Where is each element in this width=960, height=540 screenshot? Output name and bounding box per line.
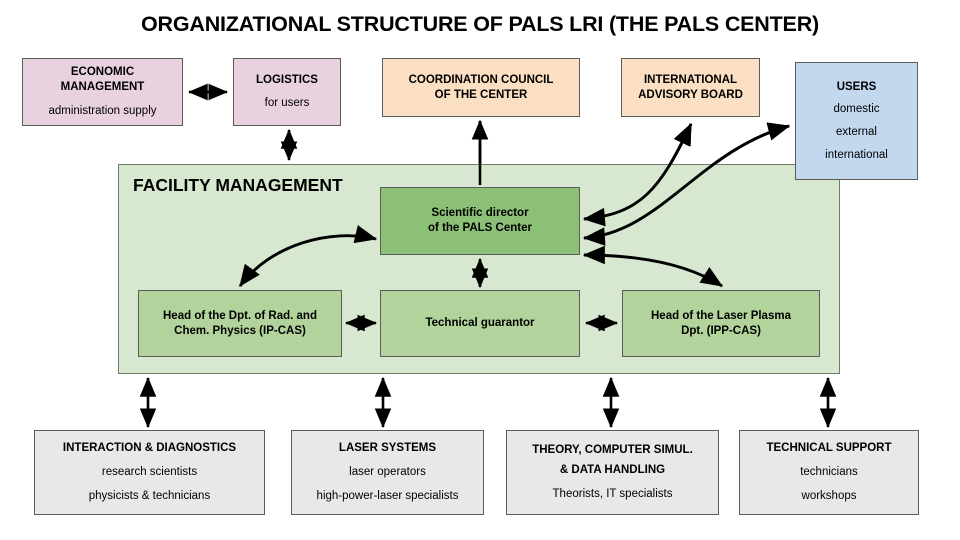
- node-heading-line2: MANAGEMENT: [61, 80, 145, 95]
- node-heading-line2: of the PALS Center: [428, 221, 532, 236]
- node-heading: TECHNICAL SUPPORT: [766, 441, 891, 456]
- node-users[interactable]: USERS domestic external international: [795, 62, 918, 180]
- node-subtext-1: laser operators: [349, 465, 426, 480]
- node-heading: Scientific director: [431, 206, 528, 221]
- node-heading: Technical guarantor: [425, 316, 534, 331]
- node-heading: ECONOMIC: [71, 65, 134, 80]
- node-technical-guarantor[interactable]: Technical guarantor: [380, 290, 580, 357]
- node-subtext: administration supply: [48, 104, 156, 119]
- node-subtext-1: technicians: [800, 465, 858, 480]
- node-heading: Head of the Laser Plasma: [651, 309, 791, 324]
- node-subtext-3: international: [825, 148, 888, 163]
- node-heading: USERS: [837, 80, 877, 95]
- node-laser-systems[interactable]: LASER SYSTEMS laser operators high-power…: [291, 430, 484, 515]
- node-theory-simulation-data-handling[interactable]: THEORY, COMPUTER SIMUL. & DATA HANDLING …: [506, 430, 719, 515]
- node-subtext-2: external: [836, 125, 877, 140]
- node-heading-line2: Chem. Physics (IP-CAS): [174, 324, 306, 339]
- node-logistics[interactable]: LOGISTICS for users: [233, 58, 341, 126]
- node-subtext-1: research scientists: [102, 465, 197, 480]
- node-heading: LOGISTICS: [256, 73, 318, 88]
- node-heading: LASER SYSTEMS: [339, 441, 436, 456]
- node-interaction-diagnostics[interactable]: INTERACTION & DIAGNOSTICS research scien…: [34, 430, 265, 515]
- node-subtext-1: domestic: [833, 102, 879, 117]
- node-heading: INTERNATIONAL: [644, 73, 737, 88]
- node-heading: COORDINATION COUNCIL: [409, 73, 554, 88]
- node-heading-line2: OF THE CENTER: [435, 88, 528, 103]
- page-title: ORGANIZATIONAL STRUCTURE OF PALS LRI (TH…: [0, 12, 960, 37]
- node-heading-line2: Dpt. (IPP-CAS): [681, 324, 761, 339]
- node-subtext: for users: [265, 96, 310, 111]
- diagram-canvas: ORGANIZATIONAL STRUCTURE OF PALS LRI (TH…: [0, 0, 960, 540]
- node-heading: INTERACTION & DIAGNOSTICS: [63, 441, 236, 456]
- node-international-advisory-board[interactable]: INTERNATIONAL ADVISORY BOARD: [621, 58, 760, 117]
- node-heading-line2: ADVISORY BOARD: [638, 88, 743, 103]
- node-coordination-council[interactable]: COORDINATION COUNCIL OF THE CENTER: [382, 58, 580, 117]
- node-technical-support[interactable]: TECHNICAL SUPPORT technicians workshops: [739, 430, 919, 515]
- node-head-laser-plasma[interactable]: Head of the Laser Plasma Dpt. (IPP-CAS): [622, 290, 820, 357]
- facility-management-label: FACILITY MANAGEMENT: [133, 175, 343, 196]
- node-economic-management[interactable]: ECONOMIC MANAGEMENT administration suppl…: [22, 58, 183, 126]
- node-head-rad-chem-physics[interactable]: Head of the Dpt. of Rad. and Chem. Physi…: [138, 290, 342, 357]
- node-subtext-2: physicists & technicians: [89, 489, 210, 504]
- node-subtext-2: workshops: [802, 489, 857, 504]
- node-subtext-2: high-power-laser specialists: [317, 489, 459, 504]
- node-scientific-director[interactable]: Scientific director of the PALS Center: [380, 187, 580, 255]
- node-heading: THEORY, COMPUTER SIMUL.: [532, 443, 693, 458]
- node-heading: Head of the Dpt. of Rad. and: [163, 309, 317, 324]
- node-subtext: Theorists, IT specialists: [553, 487, 673, 502]
- node-heading-line2: & DATA HANDLING: [560, 463, 665, 478]
